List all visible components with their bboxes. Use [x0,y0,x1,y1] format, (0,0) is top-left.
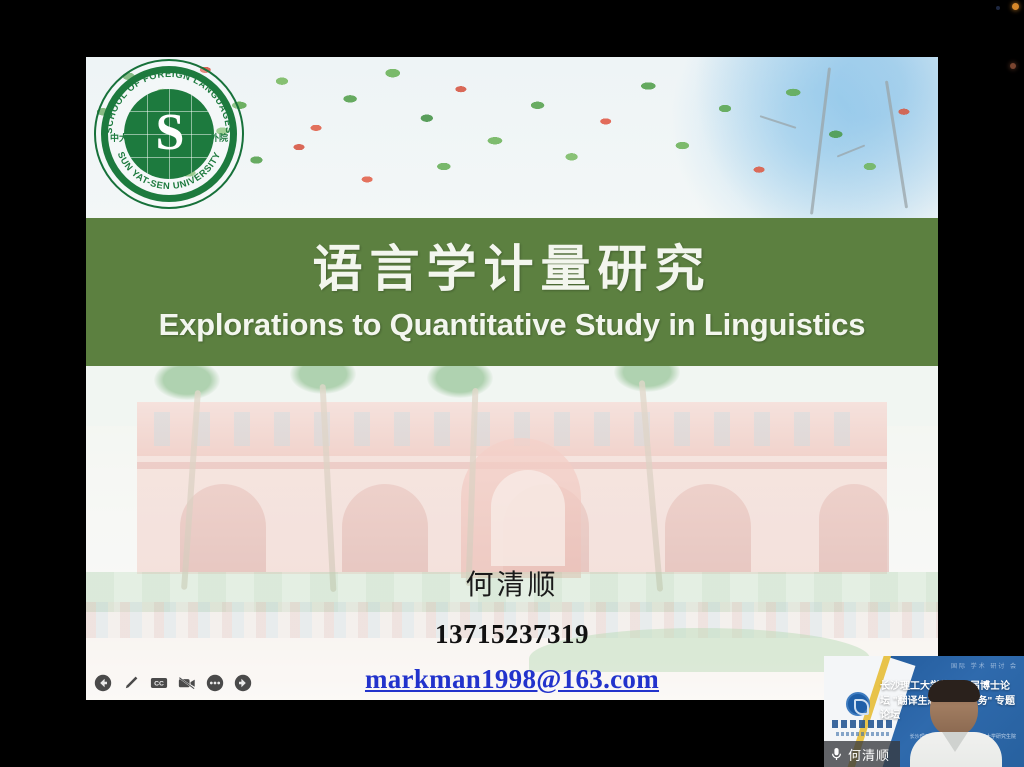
arrow-right-circle-icon[interactable] [234,674,252,692]
svg-text:CC: CC [154,681,164,688]
slide-title-chinese: 语言学计量研究 [313,242,712,297]
svg-text:SUN YAT-SEN UNIVERSITY: SUN YAT-SEN UNIVERSITY [116,150,223,191]
arrow-left-circle-icon[interactable] [94,674,112,692]
video-off-icon[interactable] [178,674,196,692]
participant-video-tile[interactable]: 国际 学术 研讨 会 长沙理工大学第十八届博士论坛 "翻译生态与语言服务" 专题… [824,656,1024,767]
logo-text-cn-right: 外院 [209,132,228,143]
presentation-slide[interactable]: S SCHOOL OF FOREIGN LANGUAGES SUN YAT-SE… [86,57,938,700]
speaker-phone: 13715237319 [86,619,938,650]
ambient-dot-red [1010,63,1016,69]
logo-text-cn-left: 中大 [110,132,128,143]
logo-ring-text: SCHOOL OF FOREIGN LANGUAGES SUN YAT-SEN … [94,59,244,209]
participant-name-label: 何清顺 [848,745,890,764]
logo-text-top: SCHOOL OF FOREIGN LANGUAGES [104,69,234,134]
sun-yat-sen-university-logo: S SCHOOL OF FOREIGN LANGUAGES SUN YAT-SE… [94,59,244,209]
ellipsis-circle-icon[interactable] [206,674,224,692]
speaker-name: 何清顺 [86,563,938,603]
poster-topright-text: 国际 学术 研讨 会 [951,661,1018,670]
cc-icon[interactable]: CC [150,674,168,692]
slide-title-band: 语言学计量研究 Explorations to Quantitative Stu… [86,218,938,366]
participant-webcam-image [912,682,998,767]
participant-name-chip: 何清顺 [824,741,900,767]
svg-text:SCHOOL OF FOREIGN LANGUAGES: SCHOOL OF FOREIGN LANGUAGES [104,69,234,134]
ambient-dot-orange [1012,3,1019,10]
speaker-email-link[interactable]: markman1998@163.com [365,664,659,695]
screen-share-view: S SCHOOL OF FOREIGN LANGUAGES SUN YAT-SE… [0,0,1024,767]
ambient-dot-faint [996,6,1000,10]
pencil-icon[interactable] [122,674,140,692]
logo-text-bottom: SUN YAT-SEN UNIVERSITY [116,150,223,191]
slide-title-english: Explorations to Quantitative Study in Li… [159,307,866,343]
slide-toolbar: CC [90,672,256,694]
poster-university-subname [836,732,890,736]
microphone-icon [831,747,842,761]
university-emblem-icon [846,692,870,716]
